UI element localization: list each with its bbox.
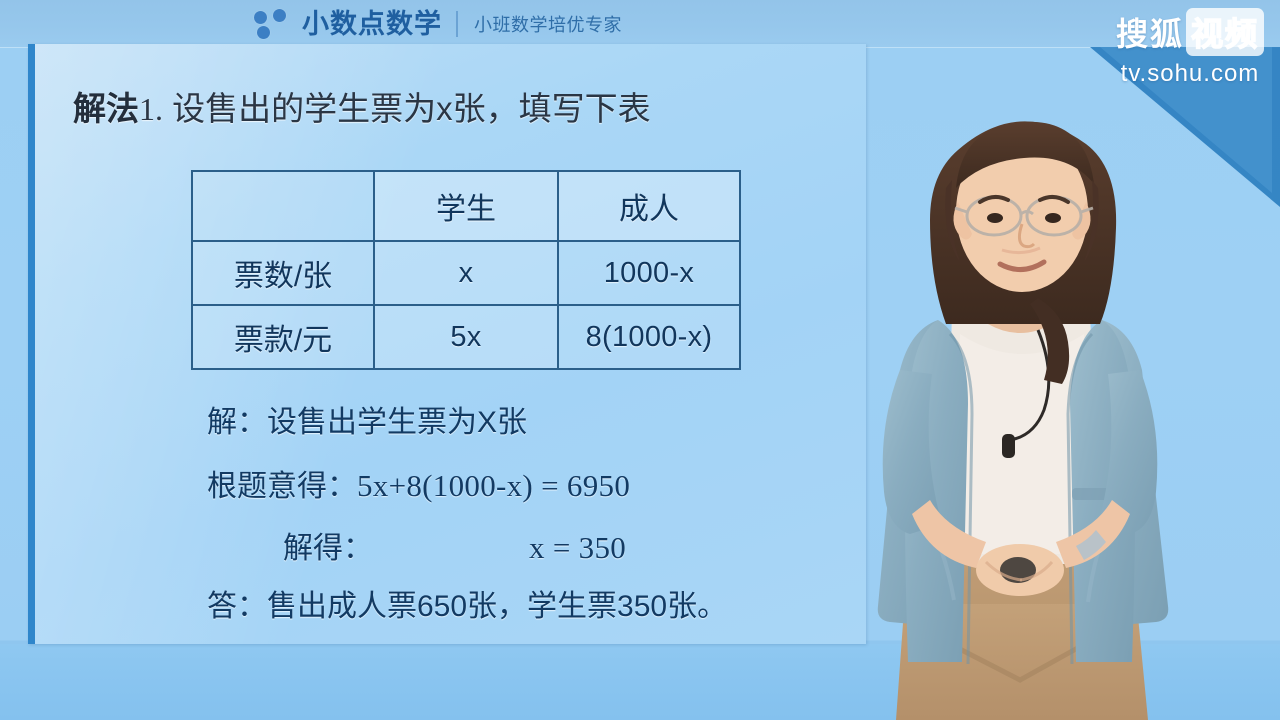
slide-title-number: 1. — [139, 91, 163, 127]
solution-result-expr: x = 350 — [529, 530, 626, 565]
table-header-student: 学生 — [374, 171, 558, 241]
studio-floor — [0, 644, 1280, 720]
table-header-corner — [192, 171, 374, 241]
cell-student-amount: 5x — [374, 305, 558, 369]
table-header-adult: 成人 — [558, 171, 740, 241]
three-dots-icon — [254, 8, 292, 40]
solution-equation-expr: 5x+8(1000-x) = 6950 — [357, 468, 630, 503]
row-label-ticket-count: 票数/张 — [192, 241, 374, 305]
solution-line-result: 解得：x = 350 — [283, 532, 1114, 564]
brand-divider — [456, 11, 458, 37]
video-frame: 小数点数学 小班数学培优专家 搜狐 视频 tv.sohu.com 解法1. 设售… — [0, 0, 1280, 720]
solution-line-setup: 解：设售出学生票为X张 — [207, 408, 1038, 438]
slide-title-rest: 设售出的学生票为x张，填写下表 — [172, 90, 651, 127]
brand-name: 小数点数学 — [302, 11, 442, 38]
slide-title: 解法1. 设售出的学生票为x张，填写下表 — [73, 92, 651, 125]
ticket-table: 学生 成人 票数/张 x 1000-x 票款/元 5x 8(1000-x) — [191, 170, 741, 370]
lesson-slide-panel: 解法1. 设售出的学生票为x张，填写下表 学生 成人 票数/张 x 1000-x — [28, 44, 866, 644]
solution-result-label: 解得： — [283, 532, 373, 565]
solution-equation-label: 根题意得： — [207, 470, 357, 503]
brand-logo: 小数点数学 小班数学培优专家 — [254, 4, 622, 44]
solution-line-answer: 答：售出成人票650张，学生票350张。 — [207, 592, 1038, 622]
cell-adult-amount: 8(1000-x) — [558, 305, 740, 369]
table-row: 票款/元 5x 8(1000-x) — [192, 305, 740, 369]
slide-title-strong: 解法 — [73, 90, 139, 127]
header-band — [0, 0, 1280, 47]
table-header-row: 学生 成人 — [192, 171, 740, 241]
cell-adult-count: 1000-x — [558, 241, 740, 305]
brand-tagline: 小班数学培优专家 — [474, 11, 622, 37]
solution-line-equation: 根题意得：5x+8(1000-x) = 6950 — [207, 470, 1038, 502]
cell-student-count: x — [374, 241, 558, 305]
row-label-ticket-amount: 票款/元 — [192, 305, 374, 369]
table-row: 票数/张 x 1000-x — [192, 241, 740, 305]
